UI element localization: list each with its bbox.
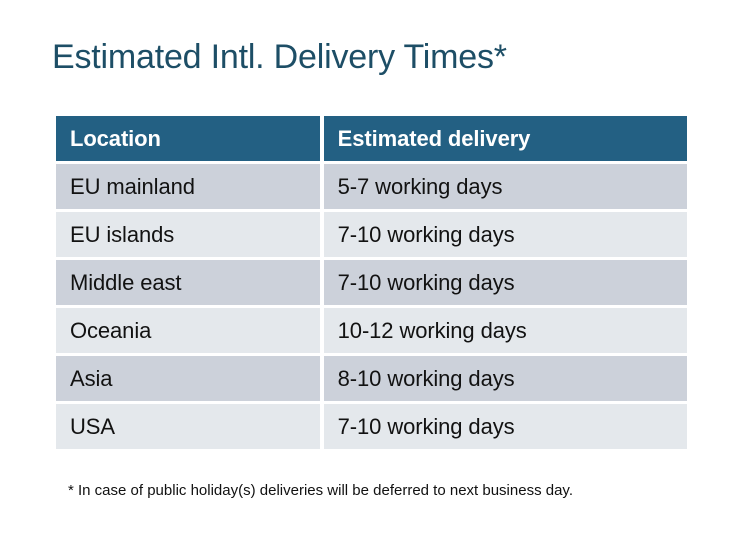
column-header-location: Location [56,116,320,161]
table-row: EU islands 7-10 working days [56,212,687,257]
table-row: Middle east 7-10 working days [56,260,687,305]
column-header-estimated-delivery: Estimated delivery [324,116,687,161]
cell-location: USA [56,404,320,449]
cell-location: Middle east [56,260,320,305]
cell-estimated-delivery: 7-10 working days [324,260,687,305]
cell-location: EU islands [56,212,320,257]
cell-estimated-delivery: 8-10 working days [324,356,687,401]
table-row: Oceania 10-12 working days [56,308,687,353]
table-row: USA 7-10 working days [56,404,687,449]
page-title: Estimated Intl. Delivery Times* [52,36,507,78]
table-header-row: Location Estimated delivery [56,116,687,161]
cell-estimated-delivery: 10-12 working days [324,308,687,353]
cell-location: Asia [56,356,320,401]
footnote-text: * In case of public holiday(s) deliverie… [68,481,573,501]
cell-estimated-delivery: 5-7 working days [324,164,687,209]
table-row: Asia 8-10 working days [56,356,687,401]
estimated-delivery-table: Location Estimated delivery EU mainland … [52,113,691,452]
table-header: Location Estimated delivery [56,116,687,161]
cell-location: EU mainland [56,164,320,209]
cell-location: Oceania [56,308,320,353]
delivery-times-document: Estimated Intl. Delivery Times* Location… [0,0,745,536]
table-body: EU mainland 5-7 working days EU islands … [56,164,687,449]
table-row: EU mainland 5-7 working days [56,164,687,209]
cell-estimated-delivery: 7-10 working days [324,404,687,449]
cell-estimated-delivery: 7-10 working days [324,212,687,257]
